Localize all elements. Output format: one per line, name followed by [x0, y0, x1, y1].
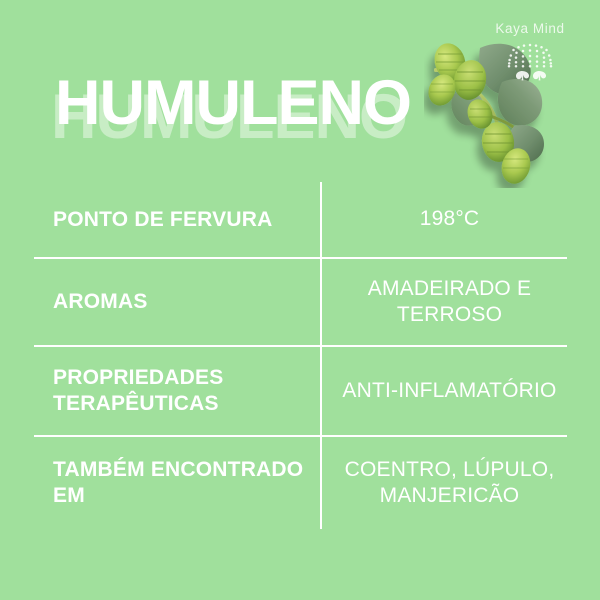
page-title: HUMULENO HUMULENO: [55, 66, 411, 140]
table-row: AROMAS AMADEIRADO E TERROSO: [34, 259, 567, 347]
spec-value-therapeutic-properties: ANTI-INFLAMATÓRIO: [320, 378, 567, 404]
spec-label-therapeutic-properties: PROPRIEDADES TERAPÊUTICAS: [34, 365, 320, 416]
dotted-dome-plant-icon: [497, 41, 563, 81]
spec-value-boiling-point: 198°C: [320, 206, 567, 232]
terpene-info-card: HUMULENO HUMULENO Kaya Mind: [0, 0, 600, 600]
brand-logo: Kaya Mind: [478, 22, 582, 81]
brand-name-text: Kaya Mind: [478, 22, 582, 36]
spec-label-boiling-point: PONTO DE FERVURA: [34, 207, 320, 233]
spec-value-aromas: AMADEIRADO E TERROSO: [320, 276, 567, 328]
spec-label-aromas: AROMAS: [34, 289, 320, 315]
table-row: PROPRIEDADES TERAPÊUTICAS ANTI-INFLAMATÓ…: [34, 347, 567, 437]
table-row: PONTO DE FERVURA 198°C: [34, 182, 567, 259]
spec-label-also-found-in: TAMBÉM ENCONTRADO EM: [34, 457, 320, 508]
spec-table: PONTO DE FERVURA 198°C AROMAS AMADEIRADO…: [34, 182, 567, 529]
spec-value-also-found-in: COENTRO, LÚPULO, MANJERICÃO: [320, 457, 567, 509]
page-title-text: HUMULENO: [55, 66, 411, 140]
table-row: TAMBÉM ENCONTRADO EM COENTRO, LÚPULO, MA…: [34, 437, 567, 529]
